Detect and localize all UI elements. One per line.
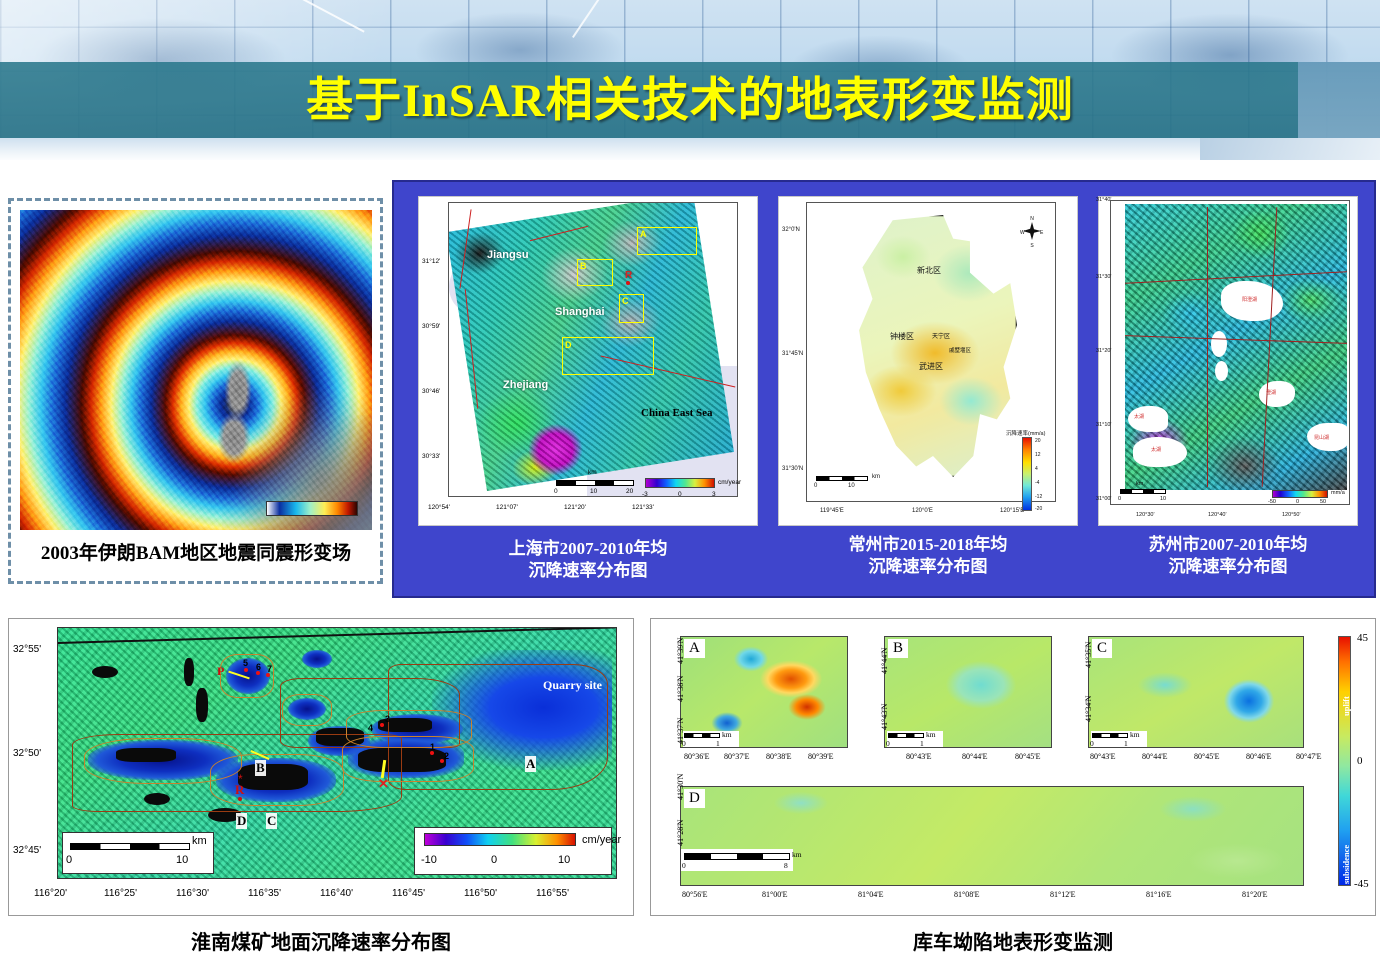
suzhou-colorbar-unit: mm/a xyxy=(1331,490,1345,496)
huainan-point-marker-1 xyxy=(430,751,434,755)
suzhou-ytick-4: 31°00' xyxy=(1096,496,1112,502)
changzhou-xtick-1: 120°0'E xyxy=(912,508,933,514)
shanghai-roi-label-b: B xyxy=(580,261,587,271)
page-header: 基于InSAR相关技术的地表形变监测 xyxy=(0,0,1380,160)
suzhou-lake-small-2 xyxy=(1215,361,1228,381)
huainan-scale-tick-1: 10 xyxy=(176,854,188,866)
shanghai-xtick-2: 121°20' xyxy=(564,504,586,511)
huainan-xtick-5: 116°45' xyxy=(392,888,425,899)
huainan-scale-unit: km xyxy=(192,835,207,847)
shanghai-scale-bar xyxy=(556,480,634,486)
bam-interferogram-image xyxy=(20,210,372,530)
huainan-caption: 淮南煤矿地面沉降速率分布图 xyxy=(8,926,634,955)
kuqa-c-xtick-2: 80°45'E xyxy=(1194,752,1220,761)
huainan-velocity-colorbar xyxy=(424,833,576,846)
huainan-label-p: P xyxy=(217,664,224,679)
huainan-ytick-2: 32°45' xyxy=(13,845,41,856)
huainan-xtick-2: 116°30' xyxy=(176,888,209,899)
shanghai-xtick-3: 121°33' xyxy=(632,504,654,511)
shanghai-label-zhejiang: Zhejiang xyxy=(503,379,548,391)
suzhou-caption-line2: 沉降速率分布图 xyxy=(1096,556,1360,578)
huainan-label-b: B xyxy=(255,760,266,776)
shanghai-label-east-sea: China East Sea xyxy=(641,407,713,419)
suzhou-scale-tick-1: 10 xyxy=(1160,496,1166,502)
shanghai-xtick-0: 120°54' xyxy=(428,504,450,511)
huainan-cb-tick-1: 0 xyxy=(491,854,497,866)
kuqa-c-ytick-1: 41°34'N xyxy=(1084,696,1093,722)
shanghai-reference-point-label: R xyxy=(625,270,632,281)
kuqa-d-scale-tick-0: 0 xyxy=(682,861,686,870)
shanghai-colorbar-tick-1: 0 xyxy=(678,491,682,498)
shanghai-map-plot: A B C D Jiangsu Shanghai Zhejiang China … xyxy=(448,202,738,497)
kuqa-b-xtick-2: 80°45'E xyxy=(1015,752,1041,761)
suzhou-label-taihu-1: 太湖 xyxy=(1134,413,1144,420)
kuqa-d-xtick-2: 81°04'E xyxy=(858,890,884,899)
huainan-working-face-outline-2 xyxy=(210,754,344,806)
changzhou-cb-tick-2: 4 xyxy=(1035,466,1038,472)
suzhou-cb-tick-0: -50 xyxy=(1268,499,1276,505)
shanghai-ytick-2: 30°46' xyxy=(422,388,440,395)
huainan-quarry-label: Quarry site xyxy=(543,678,602,693)
shanghai-velocity-colorbar xyxy=(645,478,715,488)
changzhou-subsidence-colorbar xyxy=(1022,437,1032,511)
suzhou-scale-bar xyxy=(1120,489,1166,494)
changzhou-caption-line1: 常州市2015-2018年均 xyxy=(780,534,1076,556)
kuqa-c-xtick-3: 80°46'E xyxy=(1246,752,1272,761)
bam-caption: 2003年伊朗BAM地区地震同震形变场 xyxy=(20,534,372,574)
svg-text:N: N xyxy=(1030,216,1034,222)
suzhou-ytick-3: 31°10' xyxy=(1096,422,1112,428)
kuqa-c-xtick-0: 80°43'E xyxy=(1090,752,1116,761)
kuqa-a-xtick-1: 80°37'E xyxy=(724,752,750,761)
kuqa-b-xtick-0: 80°43'E xyxy=(906,752,932,761)
suzhou-caption: 苏州市2007-2010年均 沉降速率分布图 xyxy=(1096,534,1360,578)
kuqa-d-xtick-4: 81°12'E xyxy=(1050,890,1076,899)
changzhou-district-xinbei: 新北区 xyxy=(917,265,941,276)
changzhou-district-tianning: 天宁区 xyxy=(932,331,950,340)
shanghai-reference-point-marker xyxy=(626,281,630,285)
huainan-cb-tick-0: -10 xyxy=(421,854,437,866)
shanghai-xtick-1: 121°07' xyxy=(496,504,518,511)
kuqa-colorbar-min: -45 xyxy=(1354,878,1369,890)
kuqa-colorbar-uplift-label: uplift xyxy=(1341,696,1351,716)
kuqa-c-scale-tick-0: 0 xyxy=(1090,739,1094,748)
kuqa-a-xtick-2: 80°38'E xyxy=(766,752,792,761)
kuqa-colorbar-title: vertical velocity(mm/a) xyxy=(1354,781,1364,870)
changzhou-district-wujin: 武进区 xyxy=(919,361,943,372)
kuqa-b-scale-bar xyxy=(888,733,924,738)
huainan-point-marker-7 xyxy=(266,673,270,677)
changzhou-cb-tick-3: -4 xyxy=(1035,480,1039,486)
changzhou-district-qishuyan: 戚墅堰区 xyxy=(949,346,971,354)
kuqa-caption: 库车坳陷地表形变监测 xyxy=(650,926,1376,955)
kuqa-a-ytick-0: 41°39'N xyxy=(676,638,685,664)
shanghai-caption-line2: 沉降速率分布图 xyxy=(420,560,756,582)
kuqa-panel-a-label: A xyxy=(684,639,705,658)
huainan-dark-patch-3 xyxy=(92,666,118,678)
changzhou-scale-bar xyxy=(816,476,868,481)
kuqa-b-ytick-0: 41°44'N xyxy=(880,648,889,674)
kuqa-panel-c-label: C xyxy=(1092,639,1112,658)
suzhou-ytick-1: 31°30' xyxy=(1096,274,1112,280)
suzhou-lake-cheng xyxy=(1259,381,1295,407)
changzhou-cb-tick-1: 12 xyxy=(1035,452,1041,458)
changzhou-caption-line2: 沉降速率分布图 xyxy=(780,556,1076,578)
kuqa-c-xtick-1: 80°44'E xyxy=(1142,752,1168,761)
changzhou-scale-unit: km xyxy=(872,474,880,480)
shanghai-scale-tick-2: 20 xyxy=(626,488,633,495)
huainan-point-marker-3 xyxy=(380,723,384,727)
suzhou-xtick-2: 120°50' xyxy=(1282,512,1301,518)
huainan-ytick-1: 32°50' xyxy=(13,748,41,759)
suzhou-caption-line1: 苏州市2007-2010年均 xyxy=(1096,534,1360,556)
shanghai-roi-label-d: D xyxy=(565,340,572,350)
huainan-point-marker-6 xyxy=(256,671,260,675)
huainan-xtick-7: 116°55' xyxy=(536,888,569,899)
changzhou-cb-tick-5: -20 xyxy=(1035,506,1042,512)
suzhou-scale-tick-0: 0 xyxy=(1118,496,1121,502)
kuqa-d-xtick-1: 81°00'E xyxy=(762,890,788,899)
svg-text:S: S xyxy=(1030,243,1034,248)
kuqa-d-scale-unit: km xyxy=(792,850,802,859)
huainan-scale-bar xyxy=(70,843,190,850)
kuqa-panel-d-label: D xyxy=(684,789,705,808)
huainan-star-icon: * xyxy=(238,776,245,783)
header-bottom-right-accent xyxy=(1200,138,1380,160)
suzhou-label-chenghu: 澄湖 xyxy=(1266,389,1276,396)
kuqa-b-scale-unit: km xyxy=(926,730,936,739)
suzhou-cb-tick-2: 50 xyxy=(1320,499,1326,505)
suzhou-velocity-colorbar xyxy=(1272,490,1328,498)
shanghai-roi-label-a: A xyxy=(640,229,647,239)
huainan-xtick-1: 116°25' xyxy=(104,888,137,899)
kuqa-b-scale-tick-1: 1 xyxy=(920,739,924,748)
huainan-point-marker-2 xyxy=(440,759,444,763)
suzhou-label-yangchenghu: 阳澄湖 xyxy=(1242,296,1257,303)
kuqa-colorbar-max: 45 xyxy=(1357,632,1368,644)
suzhou-xtick-1: 120°40' xyxy=(1208,512,1227,518)
changzhou-ytick-0: 32°0'N xyxy=(782,227,800,233)
kuqa-a-scale-tick-0: 0 xyxy=(682,739,686,748)
compass-rose-icon: N S W E xyxy=(1018,214,1046,248)
kuqa-d-xtick-5: 81°16'E xyxy=(1146,890,1172,899)
header-bottom-fade xyxy=(0,138,1380,160)
kuqa-c-xtick-4: 80°47'E xyxy=(1296,752,1322,761)
kuqa-d-ytick-1: 41°28'N xyxy=(676,820,685,846)
kuqa-a-ytick-1: 41°38'N xyxy=(676,676,685,702)
kuqa-a-xtick-0: 80°36'E xyxy=(684,752,710,761)
huainan-xtick-0: 116°20' xyxy=(34,888,67,899)
kuqa-a-scale-unit: km xyxy=(722,730,732,739)
huainan-label-c: C xyxy=(266,813,277,829)
huainan-point-marker-5 xyxy=(244,668,248,672)
huainan-dark-patch-2 xyxy=(196,688,208,722)
huainan-point-2: 2 xyxy=(444,751,449,761)
changzhou-cb-tick-4: -12 xyxy=(1035,494,1042,500)
changzhou-ytick-2: 31°30'N xyxy=(782,466,803,472)
suzhou-ytick-2: 31°20' xyxy=(1096,348,1112,354)
huainan-ytick-0: 32°55' xyxy=(13,644,41,655)
shanghai-colorbar-tick-0: -3 xyxy=(642,491,648,498)
huainan-scale-tick-0: 0 xyxy=(66,854,72,866)
page-title: 基于InSAR相关技术的地表形变监测 xyxy=(0,70,1380,132)
huainan-xtick-3: 116°35' xyxy=(248,888,281,899)
kuqa-c-ytick-0: 41°35'N xyxy=(1084,642,1093,668)
kuqa-c-scale-bar xyxy=(1092,733,1128,738)
kuqa-d-xtick-6: 81°20'E xyxy=(1242,890,1268,899)
kuqa-d-scale-bar xyxy=(684,853,790,860)
suzhou-map-plot: 太湖 阳澄湖 澄湖 昆山湖 太湖 xyxy=(1110,200,1350,505)
suzhou-scale-unit: km xyxy=(1136,481,1143,487)
kuqa-a-scale-bar xyxy=(684,733,720,738)
shanghai-scale-unit: km xyxy=(588,469,597,476)
huainan-working-face-outline-5 xyxy=(342,736,474,782)
kuqa-c-scale-unit: km xyxy=(1130,730,1140,739)
kuqa-d-scale-tick-1: 8 xyxy=(784,861,788,870)
kuqa-c-scale-tick-1: 1 xyxy=(1124,739,1128,748)
kuqa-a-xtick-3: 80°39'E xyxy=(808,752,834,761)
suzhou-lake-small-1 xyxy=(1211,331,1227,357)
huainan-label-d: D xyxy=(236,813,247,829)
changzhou-xtick-2: 120°15'E xyxy=(1000,508,1024,514)
changzhou-district-outline xyxy=(849,215,1017,477)
huainan-colorbar-unit: cm/year xyxy=(582,834,621,846)
huainan-cb-tick-2: 10 xyxy=(558,854,570,866)
shanghai-caption-line1: 上海市2007-2010年均 xyxy=(420,538,756,560)
huainan-subsidence-basin-8 xyxy=(302,650,332,668)
kuqa-panel-b-label: B xyxy=(888,639,908,658)
changzhou-district-zhonglou: 钟楼区 xyxy=(890,331,914,342)
kuqa-panel-d-raster xyxy=(680,786,1304,886)
changzhou-colorbar-title: 沉降速率(mm/a) xyxy=(1006,429,1045,437)
shanghai-colorbar-tick-2: 3 xyxy=(712,491,716,498)
changzhou-scale-tick-1: 10 xyxy=(848,483,855,489)
huainan-working-face-outline-3 xyxy=(282,694,332,726)
shanghai-label-jiangsu: Jiangsu xyxy=(487,249,529,261)
huainan-point-3: 3 xyxy=(385,714,390,724)
kuqa-d-ytick-0: 41°30'N xyxy=(676,774,685,800)
kuqa-d-xtick-3: 81°08'E xyxy=(954,890,980,899)
changzhou-scale-tick-0: 0 xyxy=(814,483,817,489)
shanghai-roi-label-c: C xyxy=(622,296,629,306)
bam-colorbar xyxy=(266,501,358,516)
huainan-label-a: A xyxy=(525,756,536,772)
shanghai-scale-tick-0: 0 xyxy=(554,488,558,495)
shanghai-scale-tick-1: 10 xyxy=(590,488,597,495)
shanghai-ytick-3: 30°33' xyxy=(422,453,440,460)
suzhou-label-taihu-2: 太湖 xyxy=(1151,446,1161,453)
suzhou-road-3 xyxy=(1207,207,1208,487)
huainan-point-4: 4 xyxy=(368,723,373,733)
kuqa-a-scale-tick-1: 1 xyxy=(716,739,720,748)
shanghai-ytick-0: 31°12' xyxy=(422,258,440,265)
kuqa-b-ytick-1: 41°43'N xyxy=(880,704,889,730)
shanghai-colorbar-unit: cm/year xyxy=(718,479,741,486)
suzhou-cb-tick-1: 0 xyxy=(1296,499,1299,505)
changzhou-xtick-0: 119°45'E xyxy=(820,508,844,514)
kuqa-d-xtick-0: 80°56'E xyxy=(682,890,708,899)
kuqa-b-xtick-1: 80°44'E xyxy=(962,752,988,761)
changzhou-caption: 常州市2015-2018年均 沉降速率分布图 xyxy=(780,534,1076,578)
changzhou-ytick-1: 31°45'N xyxy=(782,351,803,357)
huainan-river-line xyxy=(58,627,617,644)
kuqa-b-scale-tick-0: 0 xyxy=(886,739,890,748)
huainan-point-5: 5 xyxy=(243,658,248,668)
suzhou-label-kunshanhu: 昆山湖 xyxy=(1314,434,1329,441)
suzhou-xtick-0: 120°30' xyxy=(1136,512,1155,518)
changzhou-cb-tick-0: 20 xyxy=(1035,438,1041,444)
shanghai-ytick-1: 30°59' xyxy=(422,323,440,330)
huainan-cross-marker-icon: ✕ xyxy=(378,776,389,792)
shanghai-caption: 上海市2007-2010年均 沉降速率分布图 xyxy=(420,538,756,582)
huainan-xtick-4: 116°40' xyxy=(320,888,353,899)
huainan-dark-patch-1 xyxy=(184,658,194,686)
huainan-reference-marker xyxy=(238,797,242,801)
huainan-xtick-6: 116°50' xyxy=(464,888,497,899)
kuqa-colorbar-subsidence-label: subsidence xyxy=(1341,845,1351,884)
suzhou-ytick-0: 31°40' xyxy=(1096,197,1112,203)
shanghai-roi-box-d[interactable] xyxy=(562,337,654,375)
shanghai-label-shanghai: Shanghai xyxy=(555,306,605,318)
kuqa-colorbar-mid: 0 xyxy=(1357,755,1363,767)
